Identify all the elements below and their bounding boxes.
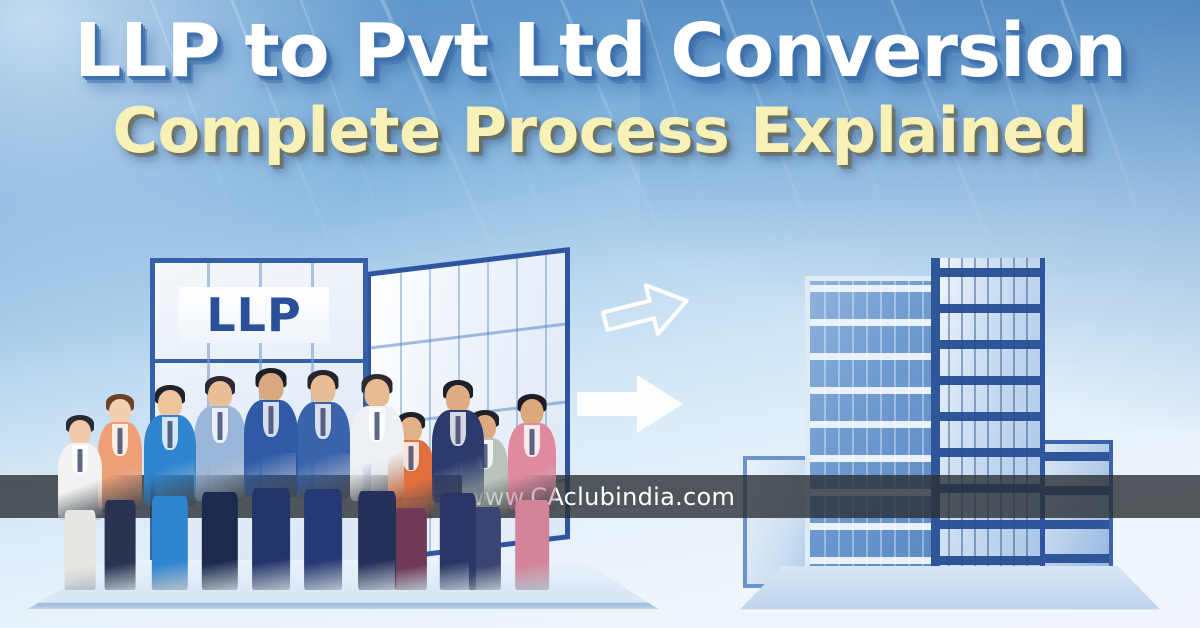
person-legs — [358, 491, 396, 590]
person-tie — [375, 412, 380, 440]
person-head — [208, 381, 232, 409]
person-legs — [304, 489, 342, 590]
person-legs — [152, 496, 188, 590]
person-figure — [194, 376, 246, 590]
person-figure — [508, 394, 556, 590]
person-tie — [530, 429, 535, 454]
person-figure — [350, 374, 404, 590]
person-tie — [456, 416, 461, 443]
person-tie — [218, 412, 223, 440]
headline-title: LLP to Pvt Ltd Conversion — [0, 14, 1200, 89]
person-legs — [105, 500, 136, 590]
tower-corner-edge — [931, 258, 940, 588]
person-head — [109, 399, 131, 424]
business-people-group — [58, 360, 578, 590]
headline: LLP to Pvt Ltd Conversion Complete Proce… — [0, 14, 1200, 163]
person-figure — [58, 415, 102, 590]
person-figure — [98, 394, 142, 590]
person-head — [158, 390, 182, 418]
person-legs — [252, 488, 290, 590]
banner-image: LLP to Pvt Ltd Conversion Complete Proce… — [0, 0, 1200, 628]
llp-sign-panel: LLP — [179, 287, 329, 343]
private-limited-tower — [805, 258, 1065, 588]
person-head — [311, 375, 336, 404]
person-tie — [269, 406, 274, 435]
llp-sign-label: LLP — [206, 288, 301, 342]
person-head — [365, 379, 390, 408]
headline-subtitle: Complete Process Explained — [0, 99, 1200, 162]
person-head — [521, 399, 544, 425]
arrow-solid-icon — [575, 372, 685, 436]
person-figure — [432, 380, 484, 590]
person-tie — [168, 421, 173, 448]
person-tie — [321, 408, 326, 437]
person-legs — [202, 492, 238, 590]
person-tie — [118, 428, 123, 453]
person-figure — [144, 385, 196, 590]
person-head — [446, 385, 470, 413]
person-tie — [78, 449, 83, 472]
person-figure — [244, 368, 298, 590]
arrow-outline-icon — [600, 280, 692, 342]
person-legs — [515, 500, 549, 590]
person-head — [259, 373, 284, 402]
person-legs — [440, 493, 476, 590]
tower-side-facade — [935, 258, 1045, 588]
person-head — [69, 420, 91, 445]
person-tie — [409, 446, 414, 469]
tower-front-facade — [805, 276, 937, 588]
person-legs — [65, 510, 96, 591]
person-figure — [296, 370, 350, 590]
